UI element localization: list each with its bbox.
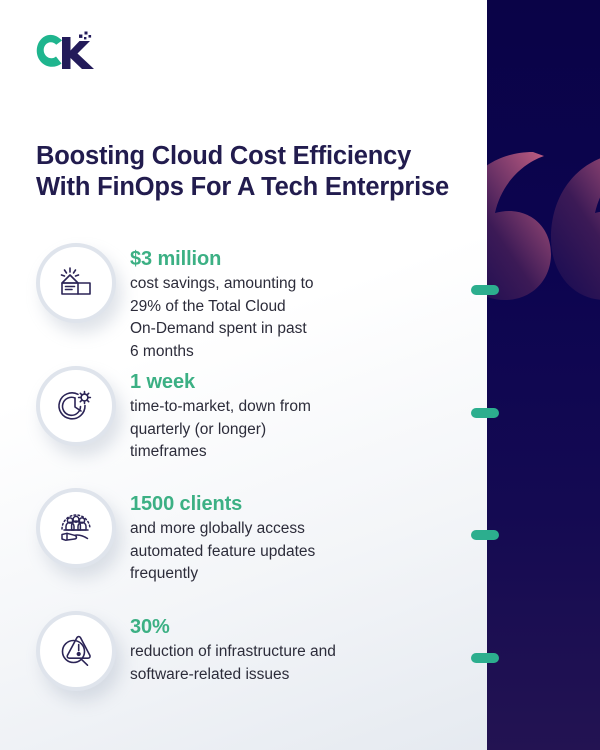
- page-title: Boosting Cloud Cost Efficiency With FinO…: [36, 141, 486, 203]
- stat-icon-wrap: [36, 488, 116, 568]
- stat-desc-line: quarterly (or longer): [130, 419, 311, 442]
- stat-text: 30% reduction of infrastructure and soft…: [130, 611, 336, 686]
- stat-item: 1 week time-to-market, down from quarter…: [36, 366, 311, 464]
- stat-value: 1500 clients: [130, 492, 315, 517]
- stat-item: $3 million cost savings, amounting to 29…: [36, 243, 314, 363]
- stat-desc-line: frequently: [130, 563, 315, 586]
- stat-description: cost savings, amounting to 29% of the To…: [130, 273, 314, 363]
- stat-value: 1 week: [130, 370, 311, 395]
- quote-mark-icon: [487, 152, 600, 302]
- stat-icon-wrap: [36, 243, 116, 323]
- stat-desc-line: timeframes: [130, 441, 311, 464]
- warning-magnifier-icon: [36, 611, 116, 691]
- stat-desc-line: and more globally access: [130, 518, 315, 541]
- stat-icon-wrap: [36, 611, 116, 691]
- page-title-line-2: With FinOps For A Tech Enterprise: [36, 172, 486, 203]
- ck-logo: [32, 31, 96, 81]
- stat-desc-line: time-to-market, down from: [130, 396, 311, 419]
- stat-desc-line: software-related issues: [130, 664, 336, 687]
- stat-text: 1500 clients and more globally access au…: [130, 488, 315, 586]
- stat-icon-wrap: [36, 366, 116, 446]
- stat-description: reduction of infrastructure and software…: [130, 641, 336, 686]
- infographic-page: Boosting Cloud Cost Efficiency With FinO…: [0, 0, 600, 750]
- clock-gear-icon: [36, 366, 116, 446]
- accent-dash: [471, 408, 499, 418]
- accent-dash: [471, 653, 499, 663]
- page-title-line-1: Boosting Cloud Cost Efficiency: [36, 141, 486, 172]
- stat-value: $3 million: [130, 247, 314, 272]
- stat-text: 1 week time-to-market, down from quarter…: [130, 366, 311, 464]
- stat-desc-line: On-Demand spent in past: [130, 318, 314, 341]
- stat-item: 1500 clients and more globally access au…: [36, 488, 315, 586]
- right-decorative-panel: [487, 0, 600, 750]
- cost-savings-icon: [36, 243, 116, 323]
- stat-desc-line: 29% of the Total Cloud: [130, 296, 314, 319]
- stat-desc-line: 6 months: [130, 341, 314, 364]
- stat-desc-line: reduction of infrastructure and: [130, 641, 336, 664]
- stat-description: time-to-market, down from quarterly (or …: [130, 396, 311, 464]
- stat-item: 30% reduction of infrastructure and soft…: [36, 611, 336, 691]
- accent-dash: [471, 530, 499, 540]
- stat-desc-line: automated feature updates: [130, 541, 315, 564]
- accent-dash: [471, 285, 499, 295]
- stat-desc-line: cost savings, amounting to: [130, 273, 314, 296]
- clients-in-hand-icon: [36, 488, 116, 568]
- stat-description: and more globally access automated featu…: [130, 518, 315, 586]
- stat-text: $3 million cost savings, amounting to 29…: [130, 243, 314, 363]
- stat-value: 30%: [130, 615, 336, 640]
